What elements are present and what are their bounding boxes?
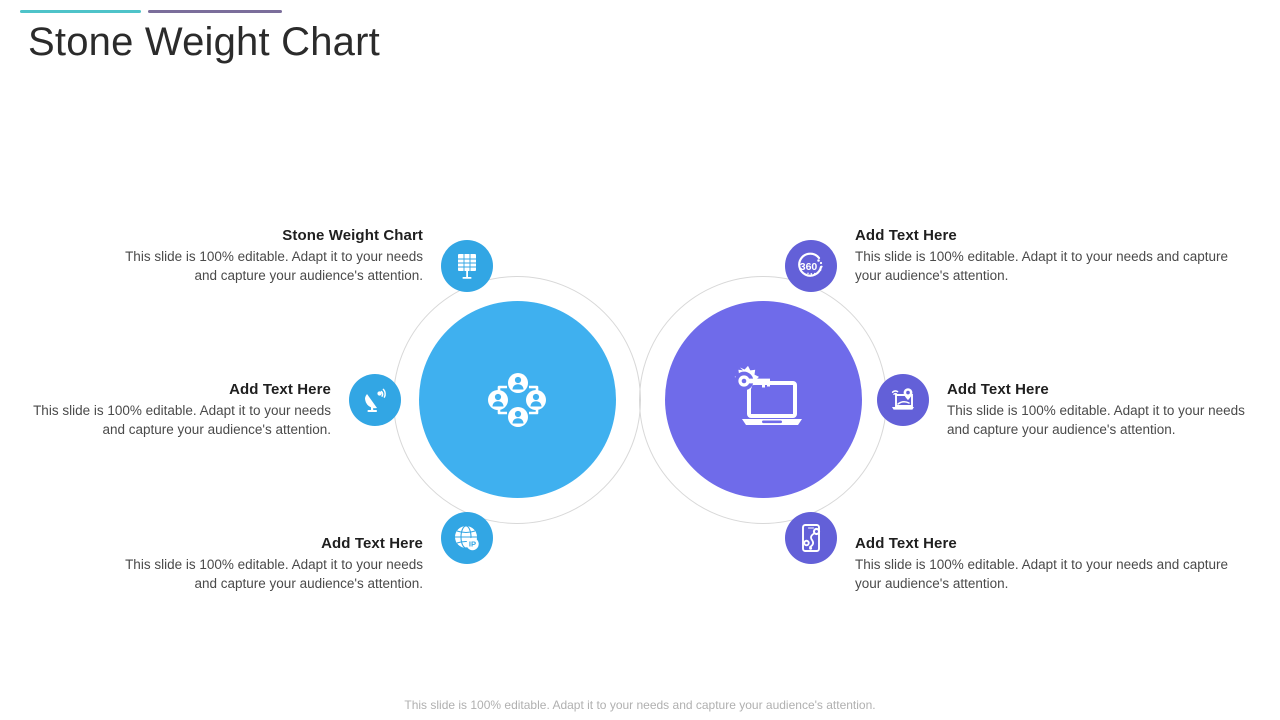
svg-text:360: 360 (800, 261, 818, 273)
text-block-body: This slide is 100% editable. Adapt it to… (855, 248, 1245, 285)
360-degree-icon: 360 (794, 249, 828, 283)
text-block-left-middle: Add Text Here This slide is 100% editabl… (31, 381, 331, 439)
infographic-diagram: IP 360 (0, 0, 1280, 720)
laptop-key-gear-icon (718, 361, 810, 439)
text-block-heading: Stone Weight Chart (123, 227, 423, 244)
satellite-dish-icon (360, 385, 390, 415)
text-block-left-bottom: Add Text Here This slide is 100% editabl… (123, 535, 423, 593)
laptop-wifi-location-icon (887, 384, 919, 416)
text-block-body: This slide is 100% editable. Adapt it to… (31, 402, 331, 439)
text-block-right-bottom: Add Text Here This slide is 100% editabl… (855, 535, 1245, 593)
footer-note: This slide is 100% editable. Adapt it to… (0, 698, 1280, 712)
satellite-icon-right-middle[interactable] (877, 374, 929, 426)
hub-circle-right[interactable] (665, 301, 862, 498)
satellite-icon-left-bottom[interactable]: IP (441, 512, 493, 564)
smartphone-route-icon (796, 522, 826, 554)
text-block-body: This slide is 100% editable. Adapt it to… (123, 248, 423, 285)
satellite-icon-right-bottom[interactable] (785, 512, 837, 564)
svg-text:IP: IP (469, 540, 476, 549)
text-block-body: This slide is 100% editable. Adapt it to… (947, 402, 1247, 439)
text-block-right-middle: Add Text Here This slide is 100% editabl… (947, 381, 1247, 439)
satellite-icon-left-top[interactable] (441, 240, 493, 292)
text-block-right-top: Add Text Here This slide is 100% editabl… (855, 227, 1245, 285)
text-block-heading: Add Text Here (855, 535, 1245, 552)
satellite-icon-right-top[interactable]: 360 (785, 240, 837, 292)
text-block-heading: Add Text Here (31, 381, 331, 398)
solar-panel-icon (452, 251, 482, 281)
globe-ip-icon: IP (452, 523, 482, 553)
satellite-icon-left-middle[interactable] (349, 374, 401, 426)
text-block-left-top: Stone Weight Chart This slide is 100% ed… (123, 227, 423, 285)
hub-circle-left[interactable] (419, 301, 616, 498)
text-block-heading: Add Text Here (855, 227, 1245, 244)
text-block-heading: Add Text Here (123, 535, 423, 552)
text-block-body: This slide is 100% editable. Adapt it to… (855, 556, 1245, 593)
people-network-icon (481, 363, 555, 437)
text-block-heading: Add Text Here (947, 381, 1247, 398)
text-block-body: This slide is 100% editable. Adapt it to… (123, 556, 423, 593)
